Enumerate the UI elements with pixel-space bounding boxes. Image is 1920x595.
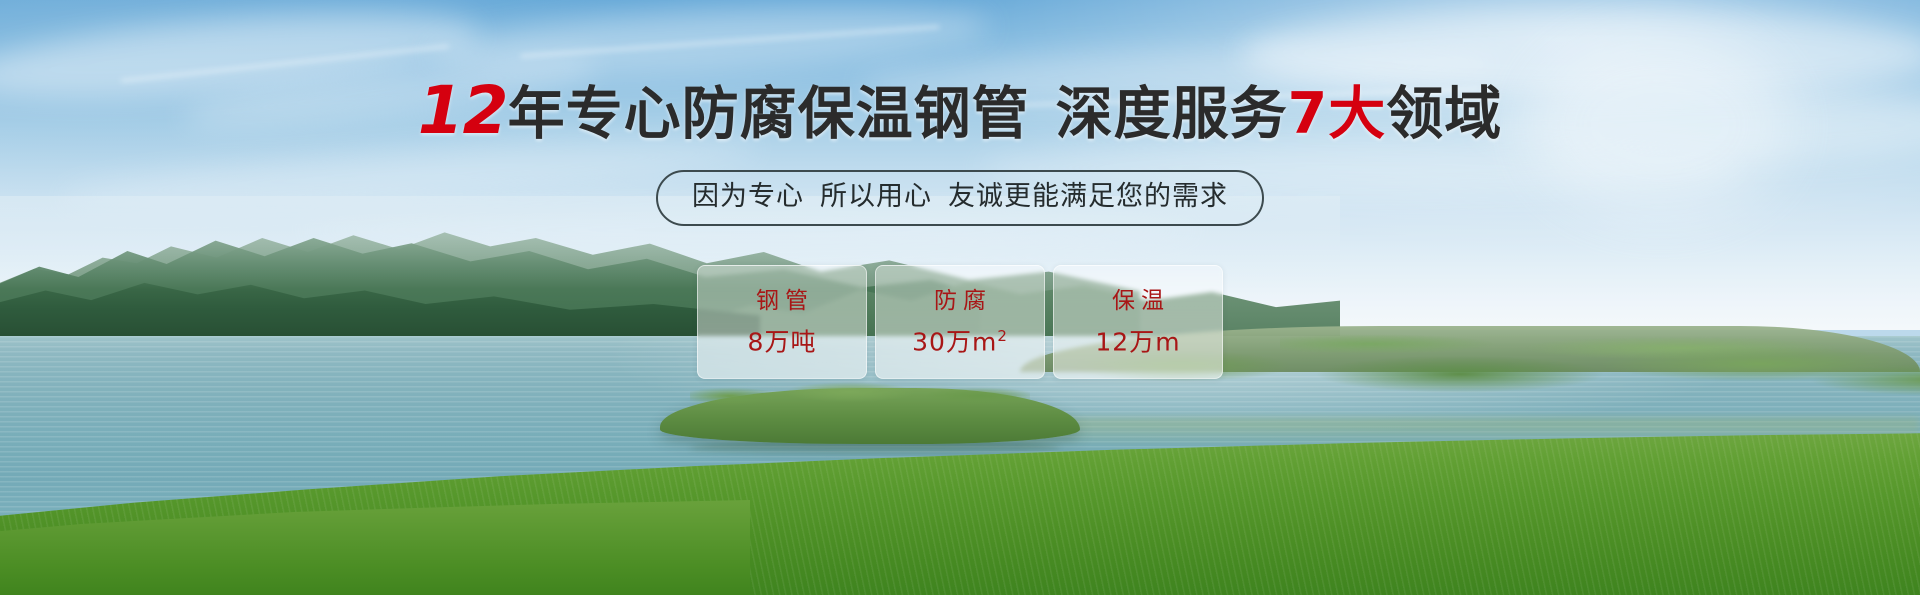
stat-value-text: 8万吨 xyxy=(748,327,817,356)
subtitle-container: 因为专心所以用心友诚更能满足您的需求 xyxy=(0,170,1920,226)
headline-main-text: 年专心防腐保温钢管 xyxy=(508,81,1030,147)
stat-value-superscript: 2 xyxy=(997,327,1008,345)
banner-content: 12年专心防腐保温钢管深度服务7大领域 因为专心所以用心友诚更能满足您的需求 钢… xyxy=(0,0,1920,595)
stat-cards: 钢管 8万吨 防腐 30万m2 保温 12万m xyxy=(0,265,1920,379)
stat-card-title: 防腐 xyxy=(928,288,992,314)
subtitle-pill: 因为专心所以用心友诚更能满足您的需求 xyxy=(656,170,1264,226)
stat-card-title: 保温 xyxy=(1106,288,1170,314)
stat-card-value: 12万m xyxy=(1095,322,1180,356)
stat-card-steel-pipe: 钢管 8万吨 xyxy=(697,265,867,379)
stat-card-value: 30万m2 xyxy=(912,322,1008,356)
hero-banner: 12年专心防腐保温钢管深度服务7大领域 因为专心所以用心友诚更能满足您的需求 钢… xyxy=(0,0,1920,595)
subtitle-part-2: 所以用心 xyxy=(820,181,932,212)
stat-card-value: 8万吨 xyxy=(748,322,817,356)
headline: 12年专心防腐保温钢管深度服务7大领域 xyxy=(0,78,1920,147)
stat-value-text: 30万m xyxy=(912,327,997,356)
headline-years-number: 12 xyxy=(418,72,508,149)
stat-value-text: 12万m xyxy=(1095,327,1180,356)
stat-card-insulation: 保温 12万m xyxy=(1053,265,1223,379)
subtitle-part-3: 友诚更能满足您的需求 xyxy=(948,181,1228,212)
headline-service-suffix: 领域 xyxy=(1386,81,1502,147)
subtitle-part-1: 因为专心 xyxy=(692,181,804,212)
headline-fields-count: 7大 xyxy=(1288,81,1387,147)
stat-card-title: 钢管 xyxy=(750,288,814,314)
headline-service-prefix: 深度服务 xyxy=(1056,81,1288,147)
stat-card-anticorrosion: 防腐 30万m2 xyxy=(875,265,1045,379)
